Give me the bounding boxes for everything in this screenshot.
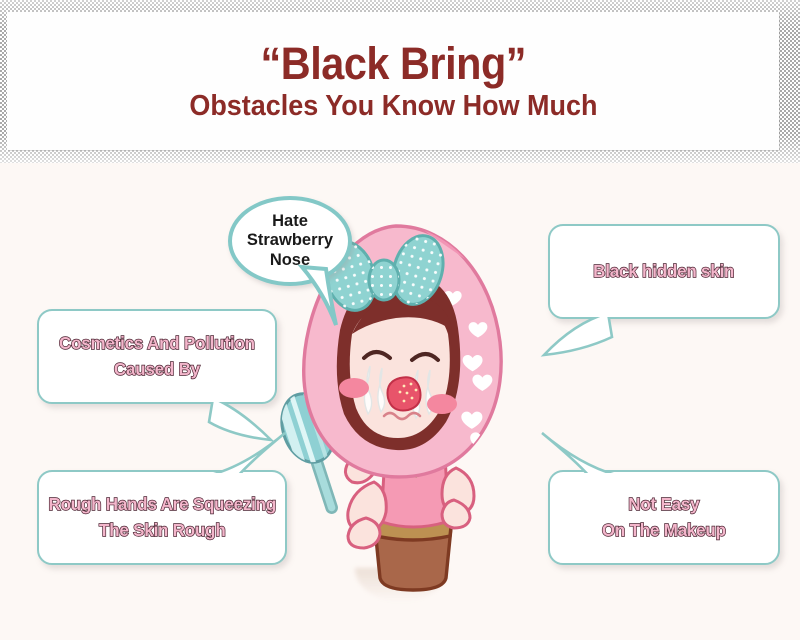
bubble-cosmetics-and-pollution[interactable]: Cosmetics And Pollution Caused By [37, 309, 277, 404]
bubble-rough-hands-are-squeezing[interactable]: Rough Hands Are Squeezing The Skin Rough [37, 470, 287, 565]
bubble-tail-rough-hands [207, 431, 297, 479]
flower-pot [374, 518, 452, 590]
illustration-panel: Hate Strawberry Nose Black hidden skin C… [0, 163, 800, 640]
infographic-banner: “Black Bring” Obstacles You Know How Muc… [0, 0, 800, 640]
bubble-text: Black hidden skin [593, 259, 734, 284]
bubble-black-hidden-skin[interactable]: Black hidden skin [548, 224, 780, 319]
page-subtitle: Obstacles You Know How Much [189, 91, 597, 121]
bubble-text: Hate Strawberry Nose [247, 212, 333, 269]
bubble-tail-thought [296, 263, 366, 333]
page-title: “Black Bring” [260, 41, 525, 87]
blush-left [339, 378, 369, 398]
bubble-text: Not Easy On The Makeup [602, 492, 726, 543]
bubble-text: Cosmetics And Pollution Caused By [59, 331, 255, 382]
bubble-text: Rough Hands Are Squeezing The Skin Rough [48, 492, 275, 543]
bubble-tail-black-hidden-skin [540, 311, 620, 371]
bubble-tail-not-easy [530, 431, 620, 479]
strawberry-nose [388, 377, 421, 410]
blush-right [427, 394, 457, 414]
bubble-not-easy-on-the-makeup[interactable]: Not Easy On The Makeup [548, 470, 780, 565]
title-card: “Black Bring” Obstacles You Know How Muc… [7, 12, 779, 150]
